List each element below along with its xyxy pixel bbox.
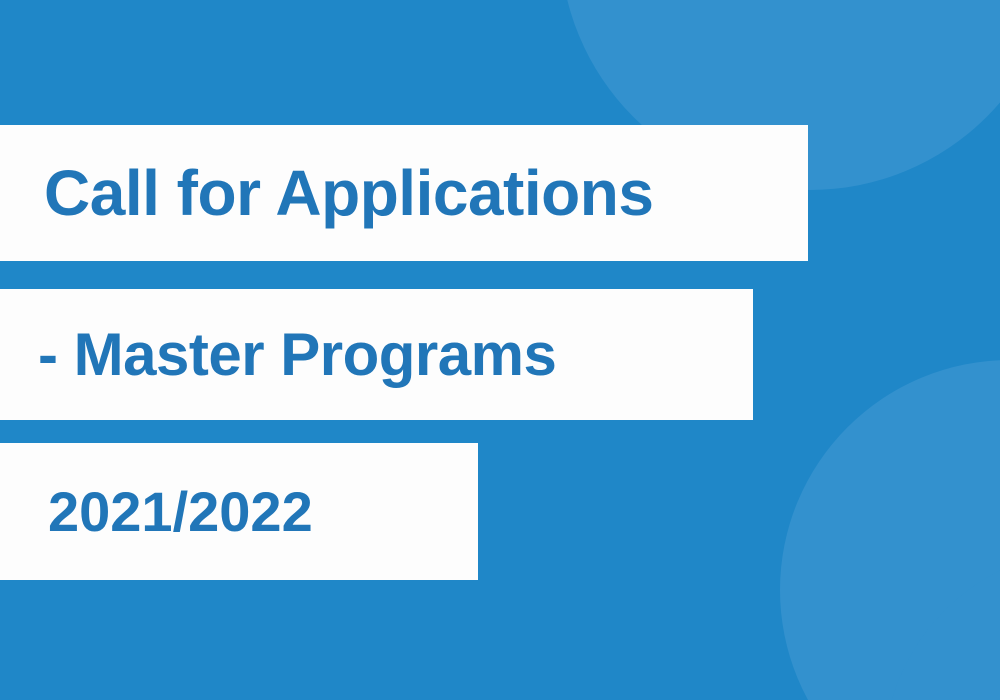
subheadline-band: - Master Programs [0, 289, 753, 420]
headline-band: Call for Applications [0, 125, 808, 261]
academic-year-text: 2021/2022 [48, 484, 313, 540]
academic-year-band: 2021/2022 [0, 443, 478, 580]
subheadline-text: - Master Programs [38, 325, 556, 385]
poster-banner: Call for Applications - Master Programs … [0, 0, 1000, 700]
headline-text: Call for Applications [44, 161, 653, 225]
